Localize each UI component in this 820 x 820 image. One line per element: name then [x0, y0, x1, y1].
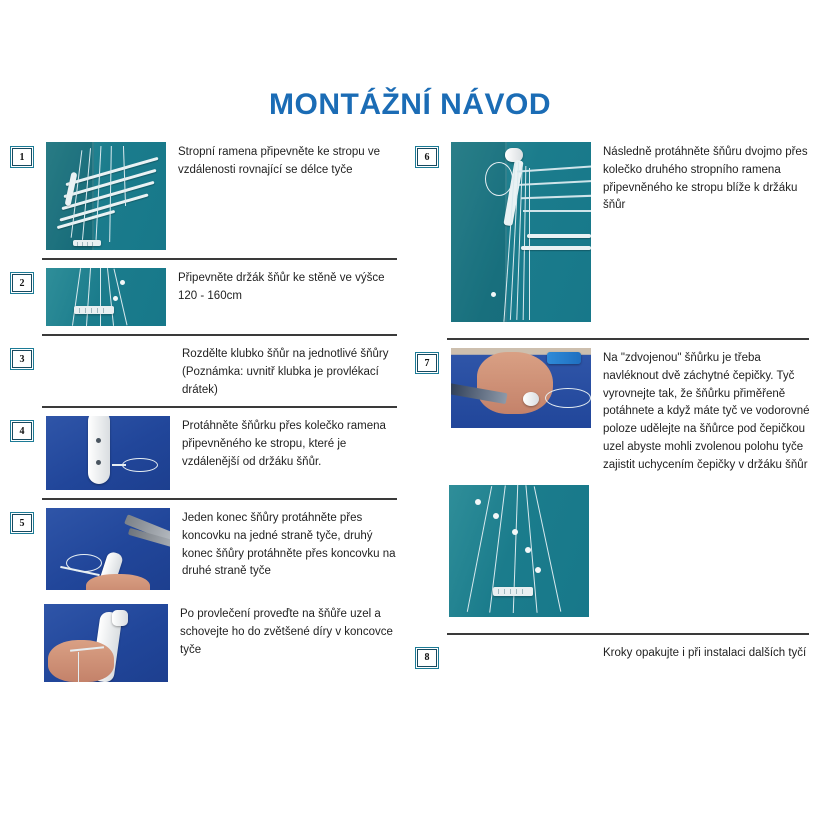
step-number-badge: 5	[10, 512, 34, 534]
step-text: Protáhněte šňůrku přes kolečko ramena př…	[182, 414, 402, 471]
step-image-wrapper	[44, 414, 172, 492]
divider	[42, 498, 397, 500]
divider	[447, 633, 809, 635]
knot-endcap-photo	[44, 604, 168, 682]
step-number-badge: 1	[10, 146, 34, 168]
step-7: 7 Na "zdvojenou" šňůrku je třeba navlékn…	[415, 346, 815, 619]
divider	[42, 406, 397, 408]
cords-with-caps-photo	[449, 485, 589, 617]
left-column: 1	[10, 140, 402, 684]
rod-endcap-photo	[46, 416, 170, 490]
step-text: Připevněte držák šňůr ke stěně ve výšce …	[178, 266, 402, 306]
step-image-wrapper	[44, 266, 168, 328]
right-column: 6	[415, 140, 815, 675]
step-image-wrapper	[449, 140, 593, 324]
step-image-wrapper	[44, 140, 168, 252]
step-image-placeholder	[44, 342, 172, 386]
step-image-wrapper-2	[447, 483, 591, 619]
step-text: Jeden konec šňůry protáhněte přes koncov…	[182, 506, 402, 581]
step-text: Po provlečení proveďte na šňůře uzel a s…	[180, 602, 402, 659]
step-image-wrapper	[42, 602, 170, 684]
step-5-continued: Po provlečení proveďte na šňůře uzel a s…	[10, 602, 402, 684]
step-6: 6	[415, 140, 815, 324]
step-number-badge: 2	[10, 272, 34, 294]
step-number-badge-empty	[10, 608, 32, 628]
step-text: Stropní ramena připevněte ke stropu ve v…	[178, 140, 402, 180]
second-ceiling-arm-photo	[451, 142, 591, 322]
divider	[447, 338, 809, 340]
step-number-badge-empty	[415, 489, 437, 509]
divider	[42, 334, 397, 336]
step-number-badge: 7	[415, 352, 439, 374]
step-5: 5 Jeden konec šňůry protáhněte přes konc…	[10, 506, 402, 592]
step-image-wrapper	[44, 506, 172, 592]
step-number-badge: 3	[10, 348, 34, 370]
step-2: 2 Připevněte držák š	[10, 266, 402, 328]
page-title: MONTÁŽNÍ NÁVOD	[0, 88, 820, 122]
cord-holder-photo	[46, 268, 166, 326]
step-number-badge: 8	[415, 647, 439, 669]
step-number-badge: 4	[10, 420, 34, 442]
pliers-cord-photo	[46, 508, 170, 590]
step-text: Na "zdvojenou" šňůrku je třeba navléknou…	[603, 346, 815, 475]
cap-threading-photo	[451, 348, 591, 428]
instruction-sheet: MONTÁŽNÍ NÁVOD 1	[0, 0, 820, 820]
step-image-placeholder	[449, 641, 593, 675]
step-4: 4 Protáhněte šňůrku přes kolečko ramena …	[10, 414, 402, 492]
step-text: Kroky opakujte i při instalaci dalších t…	[603, 641, 815, 663]
step-8: 8 Kroky opakujte i při instalaci dalších…	[415, 641, 815, 675]
step-1: 1	[10, 140, 402, 252]
step-text: Rozdělte klubko šňůr na jednotlivé šňůry…	[182, 342, 402, 399]
step-text-spacer	[601, 483, 815, 487]
step-number-badge: 6	[415, 146, 439, 168]
step-image-wrapper	[449, 346, 593, 430]
step-text: Následně protáhněte šňůru dvojmo přes ko…	[603, 140, 815, 215]
divider	[42, 258, 397, 260]
step-3: 3 Rozdělte klubko šňůr na jednotlivé šňů…	[10, 342, 402, 400]
ceiling-arms-photo	[46, 142, 166, 250]
